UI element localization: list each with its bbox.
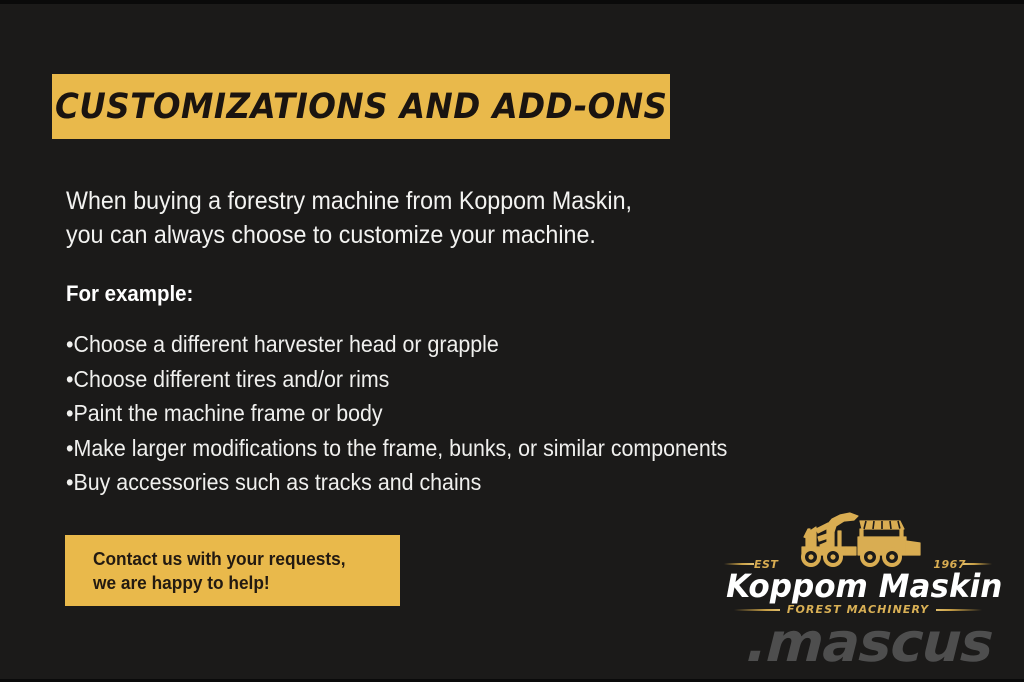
intro-line-1: When buying a forestry machine from Kopp… — [66, 184, 736, 218]
intro-line-2: you can always choose to customize your … — [66, 218, 736, 252]
intro-paragraph: When buying a forestry machine from Kopp… — [66, 184, 736, 252]
list-item: • Choose different tires and/or rims — [66, 362, 857, 397]
bullet-dot-icon: • — [66, 327, 73, 362]
bullet-dot-icon: • — [66, 465, 73, 500]
list-item: • Buy accessories such as tracks and cha… — [66, 465, 857, 500]
for-example-label: For example: — [66, 281, 193, 307]
est-label: EST — [754, 558, 778, 571]
list-item-label: Choose different tires and/or rims — [73, 362, 389, 397]
list-item-label: Paint the machine frame or body — [73, 396, 382, 431]
koppom-maskin-logo: EST 1967 Koppom Maskin FOREST MACHINERY — [722, 507, 994, 615]
list-item: • Make larger modifications to the frame… — [66, 431, 857, 466]
bullet-dot-icon: • — [66, 431, 73, 466]
list-item-label: Make larger modifications to the frame, … — [73, 431, 727, 466]
feature-bullet-list: • Choose a different harvester head or g… — [66, 327, 857, 500]
advertisement-slide: CUSTOMIZATIONS AND ADD-ONS When buying a… — [0, 0, 1024, 682]
contact-line-2: we are happy to help! — [93, 571, 388, 595]
bullet-dot-icon: • — [66, 396, 73, 431]
list-item: • Paint the machine frame or body — [66, 396, 857, 431]
list-item: • Choose a different harvester head or g… — [66, 327, 857, 362]
title-banner: CUSTOMIZATIONS AND ADD-ONS — [52, 74, 670, 139]
contact-line-1: Contact us with your requests, — [93, 547, 388, 571]
list-item-label: Buy accessories such as tracks and chain… — [73, 465, 481, 500]
page-title: CUSTOMIZATIONS AND ADD-ONS — [55, 87, 667, 127]
logo-wordmark: Koppom Maskin — [726, 567, 990, 605]
mascus-watermark: .mascus — [745, 616, 994, 670]
list-item-label: Choose a different harvester head or gra… — [73, 327, 498, 362]
est-year: 1967 — [933, 558, 966, 571]
contact-cta-box[interactable]: Contact us with your requests, we are ha… — [65, 535, 400, 606]
bullet-dot-icon: • — [66, 362, 73, 397]
